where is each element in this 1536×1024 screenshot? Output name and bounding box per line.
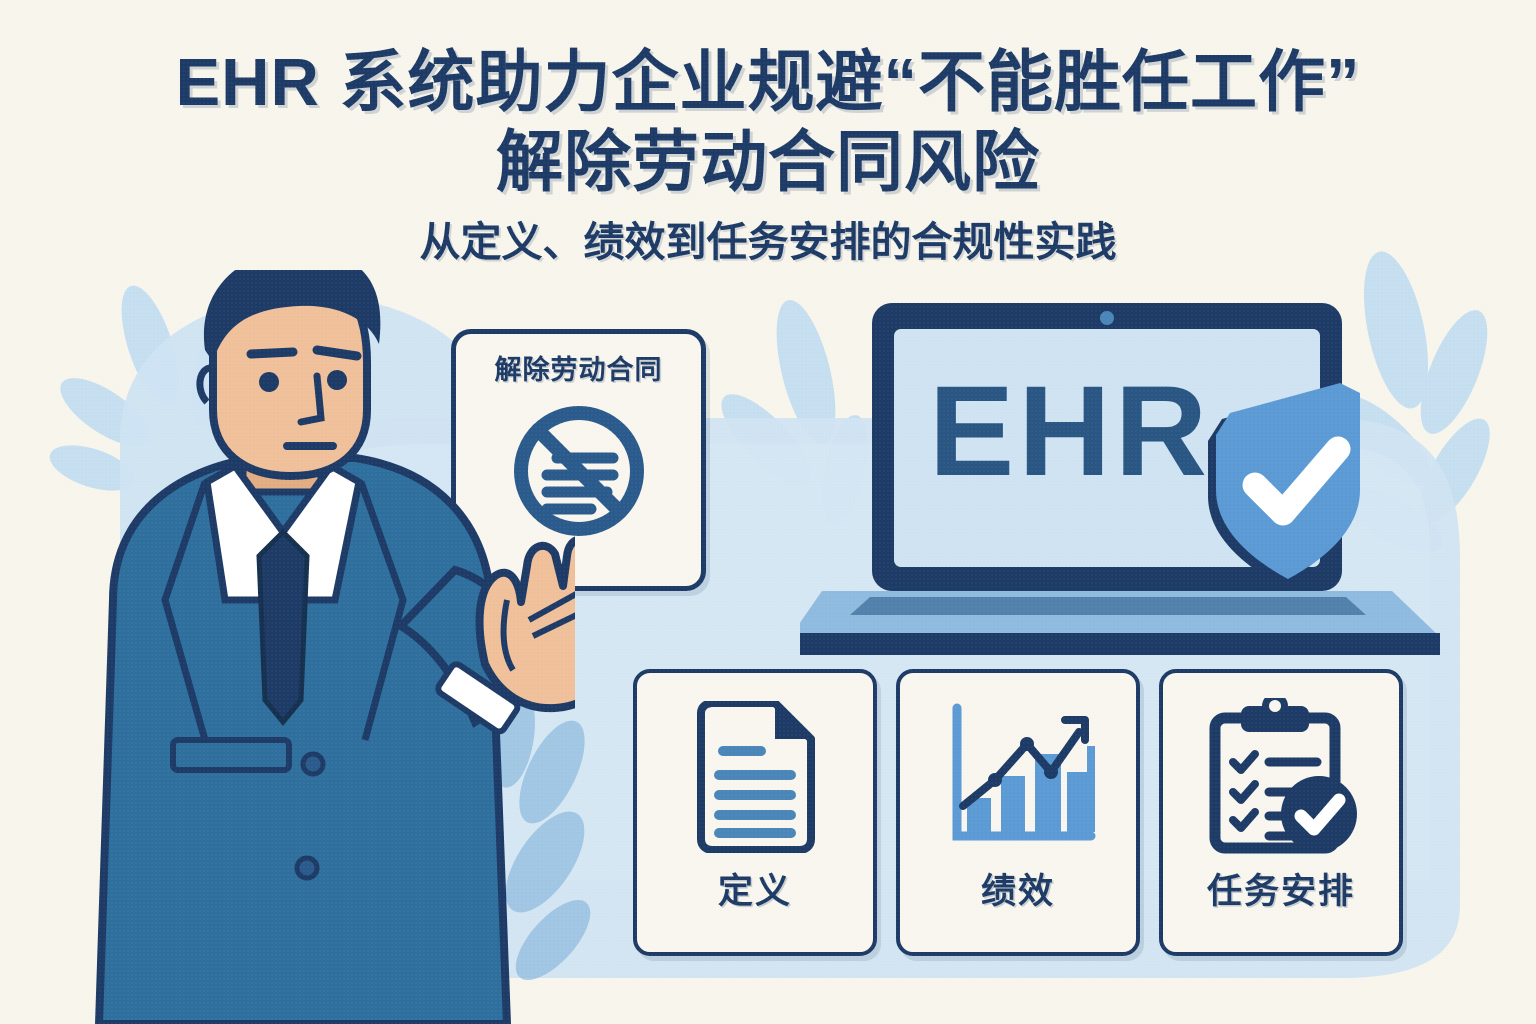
eye-left — [259, 372, 279, 392]
chart-point-1 — [988, 773, 1002, 787]
feature-card-definition[interactable]: 定义 — [633, 669, 877, 956]
header-block: EHR 系统助力企业规避“不能胜任工作” 解除劳动合同风险 从定义、绩效到任务安… — [0, 0, 1536, 268]
laptop-base-front — [800, 633, 1440, 655]
suit-button-1 — [303, 754, 323, 774]
laptop-screen-text: EHR — [929, 360, 1211, 503]
clipboard-ring-inner — [1269, 700, 1281, 712]
page-title-line2: 解除劳动合同风险 — [0, 124, 1536, 202]
feature-card-label: 任务安排 — [1207, 863, 1355, 914]
page-subtitle: 从定义、绩效到任务安排的合规性实践 — [0, 216, 1536, 268]
eyebrow-left — [251, 352, 293, 354]
chart-point-2 — [1020, 737, 1034, 751]
laptop-keyboard-area — [850, 597, 1366, 615]
feature-card-label: 绩效 — [981, 863, 1055, 914]
laptop-camera-icon — [1100, 311, 1114, 325]
document-icon — [691, 697, 819, 857]
eye-right — [327, 370, 347, 390]
laptop-illustration: EHR — [800, 285, 1450, 655]
feature-card-row: 定义 — [633, 669, 1403, 952]
businessman-illustration — [55, 270, 575, 1024]
page-title-line1: EHR 系统助力企业规避“不能胜任工作” — [0, 44, 1536, 122]
chart-point-3 — [1044, 765, 1058, 779]
suit-button-2 — [297, 858, 317, 878]
eyebrow-right — [317, 350, 357, 356]
feature-card-label: 定义 — [718, 863, 792, 914]
feature-card-performance[interactable]: 绩效 — [896, 669, 1140, 956]
infographic-canvas: EHR 系统助力企业规避“不能胜任工作” 解除劳动合同风险 从定义、绩效到任务安… — [0, 0, 1536, 1024]
clipboard-check-icon — [1201, 697, 1361, 857]
feature-card-tasks[interactable]: 任务安排 — [1159, 669, 1403, 956]
necktie — [259, 532, 307, 722]
open-palm-hand-icon — [480, 539, 575, 708]
bar-chart-trend-icon — [939, 697, 1097, 857]
